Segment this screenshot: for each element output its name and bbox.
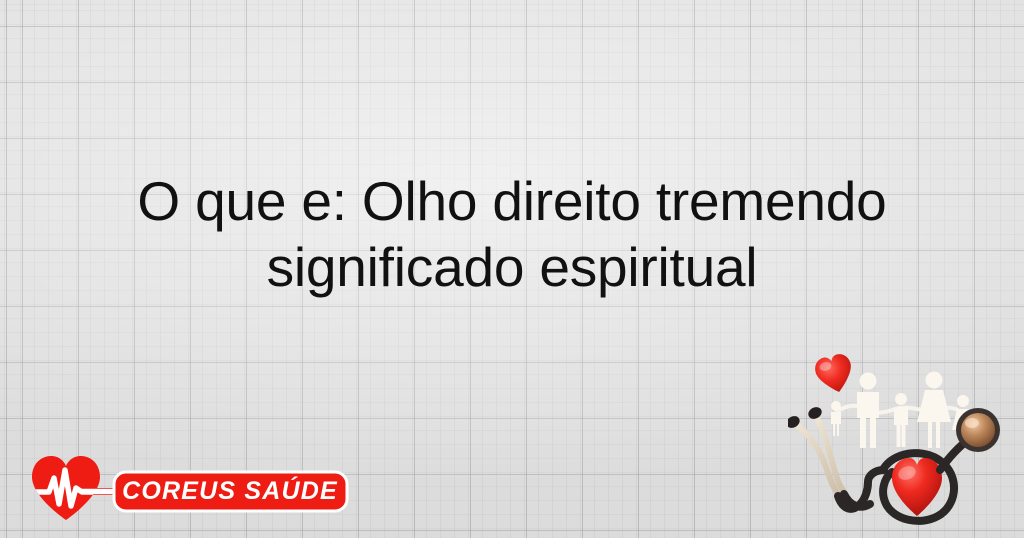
slide-canvas: O que e: Olho direito tremendo significa… xyxy=(0,0,1024,538)
large-heart-icon xyxy=(892,458,942,516)
small-heart-icon xyxy=(813,352,857,397)
brand-logo[interactable]: COREUS SAÚDE COREUS SAÚDE xyxy=(24,448,354,524)
family-silhouette-icon xyxy=(831,372,974,449)
page-title: O que e: Olho direito tremendo significa… xyxy=(60,168,964,300)
family-figure-child xyxy=(894,393,908,447)
family-figure-father xyxy=(857,373,879,449)
stethoscope-earpiece-right xyxy=(806,405,824,421)
brand-name: COREUS SAÚDE xyxy=(122,476,338,505)
family-figure-mother xyxy=(917,372,951,449)
family-figure-toddler-left xyxy=(831,401,841,436)
health-illustration xyxy=(788,350,1024,538)
